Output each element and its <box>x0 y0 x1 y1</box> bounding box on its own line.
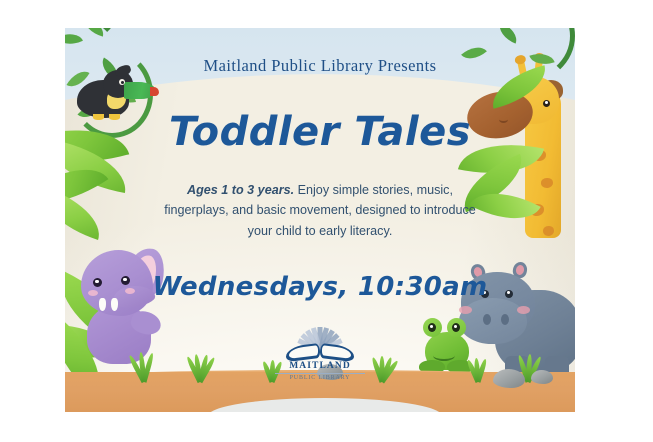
library-logo: MAITLAND PUBLIC LIBRARY <box>275 328 365 382</box>
program-description: Ages 1 to 3 years. Enjoy simple stories,… <box>155 180 485 241</box>
logo-name: MAITLAND <box>275 361 365 372</box>
open-book-icon <box>283 328 357 360</box>
logo-subtitle: PUBLIC LIBRARY <box>275 373 365 382</box>
schedule-text: Wednesdays, 10:30am <box>65 272 575 302</box>
presents-line: Maitland Public Library Presents <box>65 56 575 76</box>
page-title: Toddler Tales <box>65 112 575 152</box>
age-range-text: Ages 1 to 3 years. <box>187 183 294 197</box>
event-flyer: Maitland Public Library Presents Toddler… <box>65 28 575 412</box>
